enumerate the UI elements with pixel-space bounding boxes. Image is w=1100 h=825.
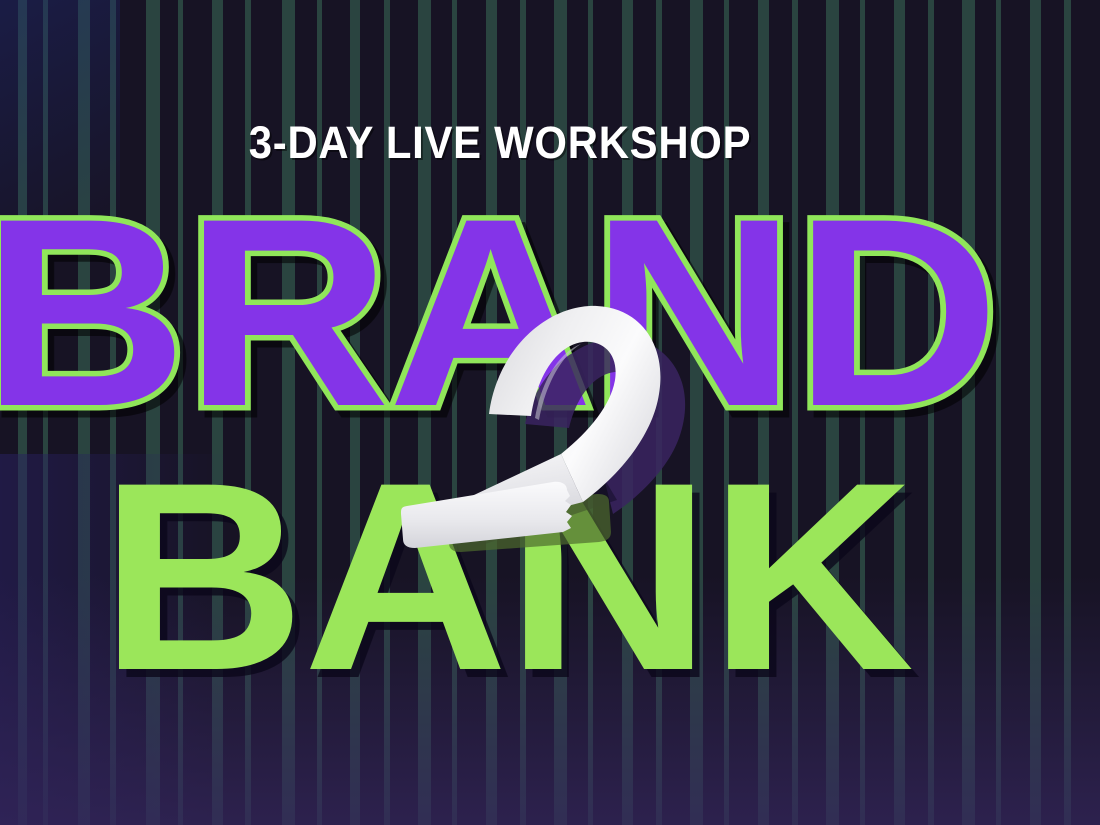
poster-canvas: 3-DAY LIVE WORKSHOP BRAND BANK — [0, 0, 1100, 825]
headline-brand-text: BRAND — [0, 178, 997, 446]
headline-brand: BRAND — [0, 178, 940, 446]
background-stripe — [1064, 0, 1071, 825]
background-stripe — [1030, 0, 1041, 825]
headline-bank: BANK — [100, 442, 866, 710]
headline-bank-text: BANK — [100, 442, 912, 710]
workshop-eyebrow-text: 3-DAY LIVE WORKSHOP — [35, 120, 965, 165]
